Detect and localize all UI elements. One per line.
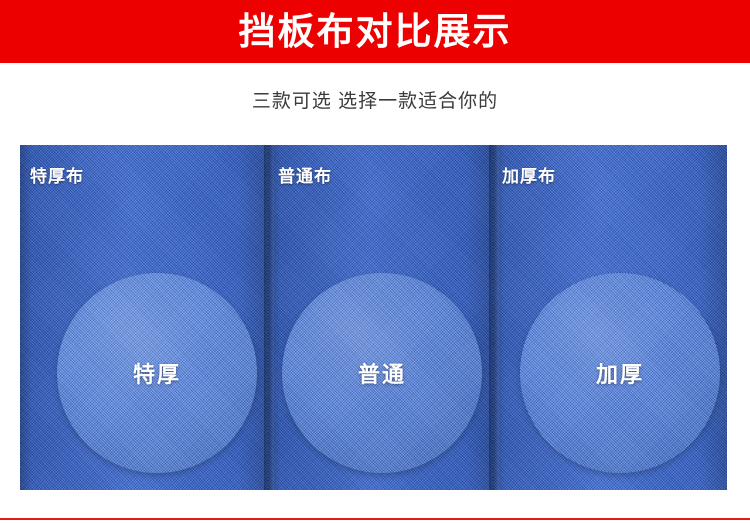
header-banner: 挡板布对比展示 <box>0 0 750 63</box>
subtitle-text: 三款可选 选择一款适合你的 <box>252 91 498 112</box>
panel-label-thick: 加厚布 <box>502 162 556 187</box>
swatch-label-extra-thick: 特厚 <box>133 357 181 389</box>
footer-divider <box>0 518 750 520</box>
panel-label-standard: 普通布 <box>278 162 332 187</box>
swatch-label-standard: 普通 <box>358 357 406 389</box>
fabric-comparison-board: 特厚布 普通布 加厚布 特厚 普通 加厚 <box>20 145 727 492</box>
swatch-label-thick: 加厚 <box>596 357 644 389</box>
swatch-circle-standard[interactable]: 普通 <box>282 273 482 473</box>
swatch-circle-extra-thick[interactable]: 特厚 <box>57 273 257 473</box>
page-title: 挡板布对比展示 <box>239 13 512 50</box>
swatch-circle-thick[interactable]: 加厚 <box>520 273 720 473</box>
subtitle-container: 三款可选 选择一款适合你的 <box>0 86 750 113</box>
panel-label-extra-thick: 特厚布 <box>30 162 84 187</box>
